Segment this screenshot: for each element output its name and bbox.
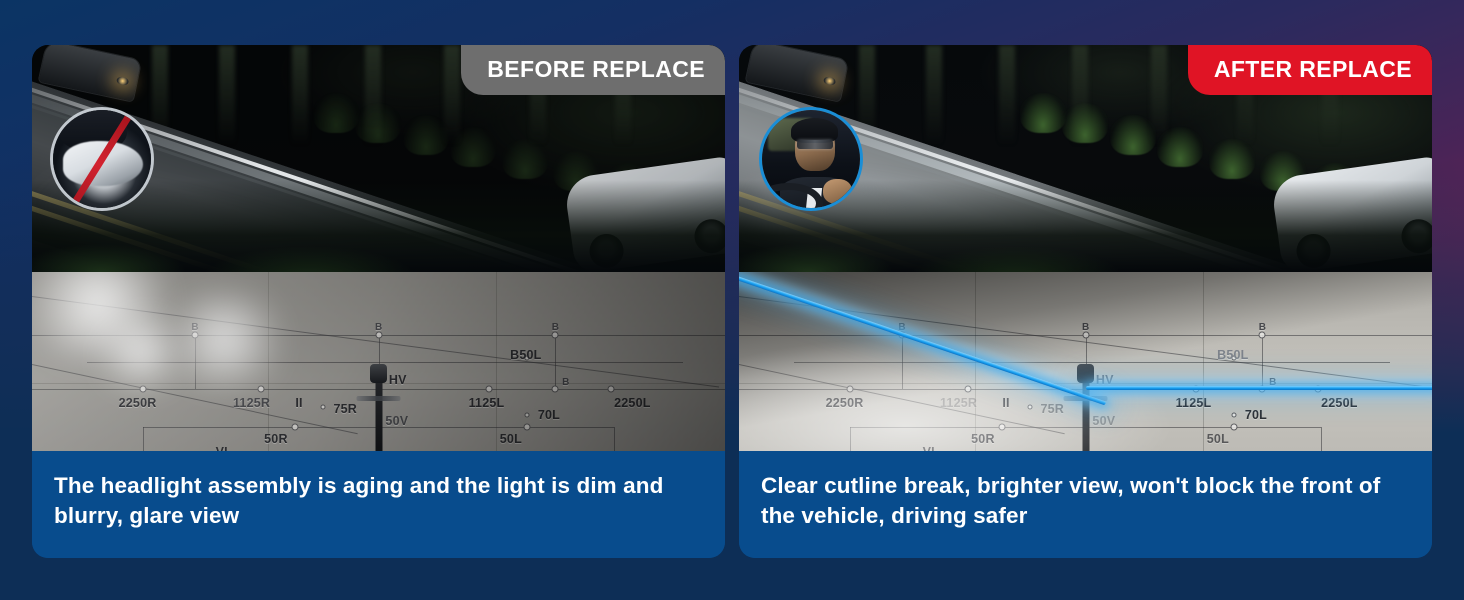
comparison-cards: BEFORE REPLACE bbox=[0, 0, 1464, 600]
caption-before: The headlight assembly is aging and the … bbox=[32, 451, 725, 558]
badge-before-replace: BEFORE REPLACE bbox=[461, 45, 725, 95]
photo-before: BEFORE REPLACE bbox=[32, 45, 725, 272]
card-before-replace: BEFORE REPLACE bbox=[32, 45, 725, 558]
caption-before-text: The headlight assembly is aging and the … bbox=[54, 471, 703, 532]
badge-after-replace: AFTER REPLACE bbox=[1188, 45, 1432, 95]
beam-pattern-diagram-after: 2250R 1125R II 75R 50V 50R VI HV 1125L 2… bbox=[739, 272, 1432, 451]
caption-after: Clear cutline break, brighter view, won'… bbox=[739, 451, 1432, 558]
photo-after: AFTER REPLACE bbox=[739, 45, 1432, 272]
beam-pattern-diagram-before: 2250R 1125R II 75R 50V 50R VI HV 1125L 2… bbox=[32, 272, 725, 451]
glasses-icon bbox=[797, 140, 832, 149]
card-after-replace: AFTER REPLACE bbox=[739, 45, 1432, 558]
caption-after-text: Clear cutline break, brighter view, won'… bbox=[761, 471, 1410, 532]
comfortable-driver-icon bbox=[759, 107, 863, 211]
glare-driver-prohibited-icon bbox=[50, 107, 154, 211]
promo-banner: BEFORE REPLACE bbox=[0, 0, 1464, 600]
